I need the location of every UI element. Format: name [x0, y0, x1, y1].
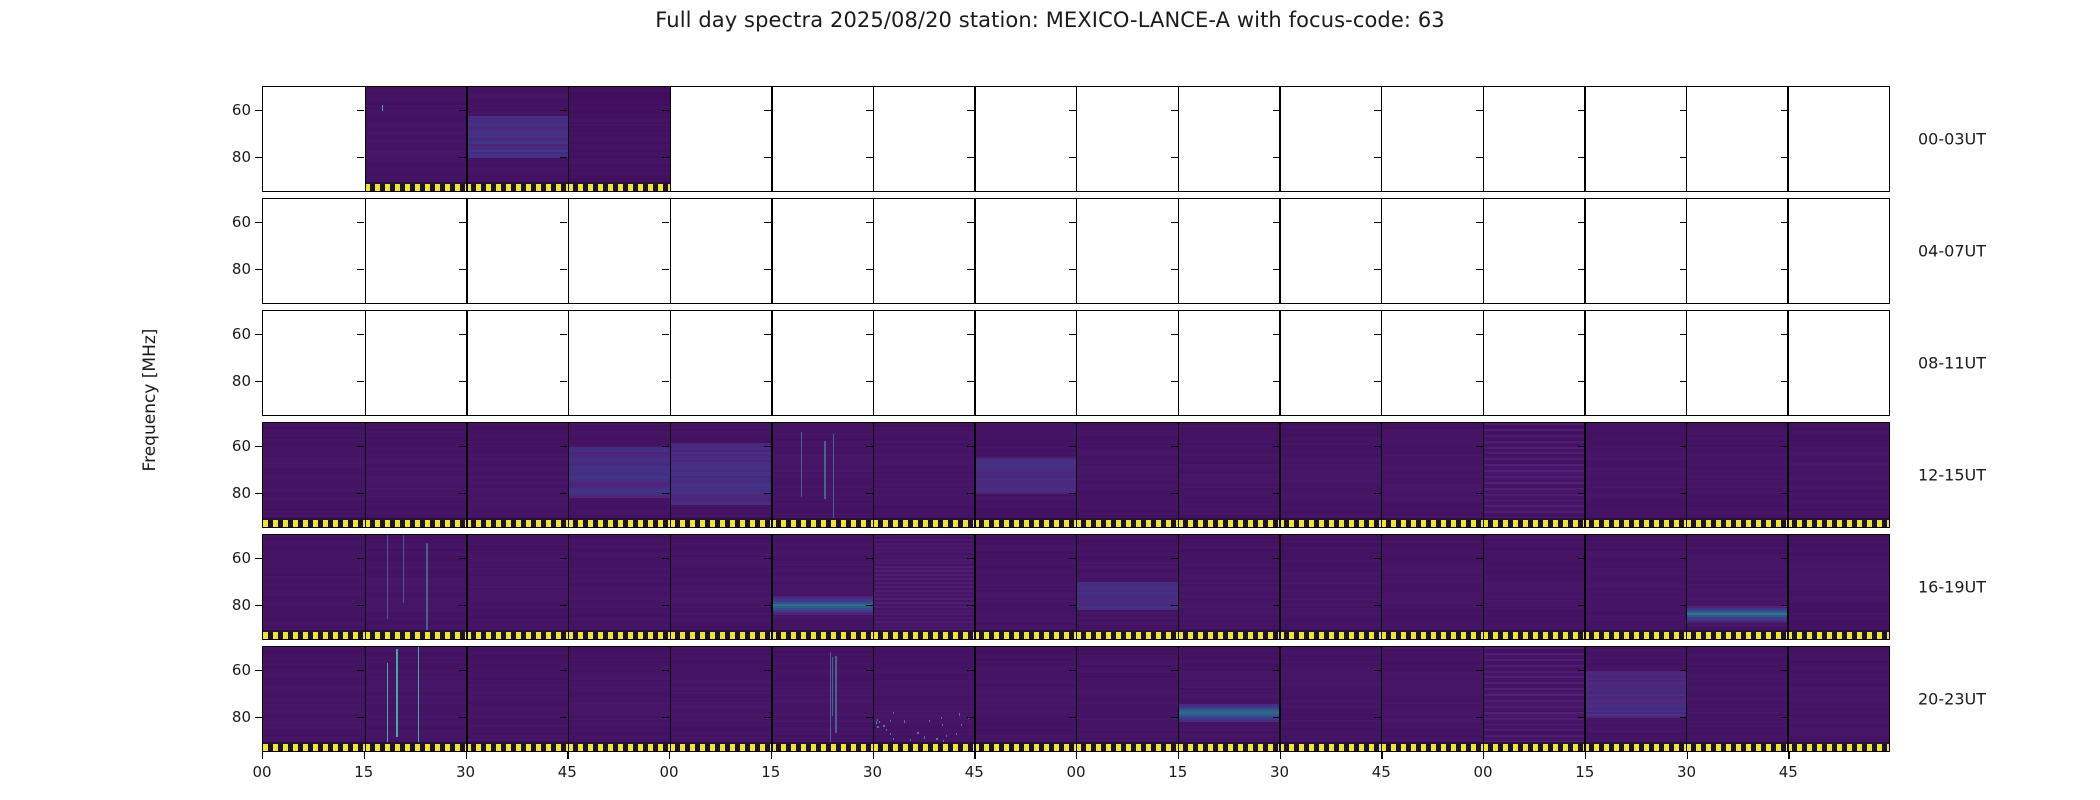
x-axis-tick-label: 15	[354, 763, 373, 781]
inner-tick	[1680, 493, 1687, 494]
spectrogram-cell[interactable]	[1076, 87, 1178, 191]
inner-tick	[1578, 717, 1585, 718]
cell-separator	[365, 647, 366, 751]
spectrogram-cell[interactable]	[1279, 647, 1381, 751]
axes-frame	[262, 646, 1890, 752]
spectrogram-cell[interactable]	[670, 535, 772, 639]
low-frequency-marker-band	[873, 632, 975, 639]
inner-tick	[459, 334, 466, 335]
spectrogram-cell[interactable]	[1381, 199, 1483, 303]
low-frequency-marker-band	[974, 520, 1076, 527]
spectrogram-texture	[466, 535, 568, 639]
inner-tick	[764, 446, 771, 447]
spectrogram-cell[interactable]	[1686, 535, 1788, 639]
spectrogram-cell[interactable]	[466, 423, 568, 527]
inner-tick	[662, 670, 669, 671]
x-axis-tick-label: 45	[1779, 763, 1798, 781]
inner-tick	[560, 110, 567, 111]
low-frequency-marker-band	[670, 744, 772, 751]
inner-tick	[866, 269, 873, 270]
inner-tick	[357, 717, 364, 718]
inner-tick	[560, 717, 567, 718]
spectrogram-cell[interactable]	[1584, 535, 1686, 639]
inner-tick	[1578, 269, 1585, 270]
x-axis-tick	[466, 752, 467, 759]
spectrogram-cell[interactable]	[1178, 87, 1280, 191]
inner-tick	[357, 558, 364, 559]
inner-tick	[1781, 717, 1788, 718]
low-frequency-marker-band	[974, 632, 1076, 639]
inner-tick	[967, 717, 974, 718]
axes-frame	[262, 310, 1890, 416]
cell-separator	[1178, 423, 1179, 527]
y-axis-tick	[255, 558, 262, 559]
spectrogram-cell[interactable]	[1178, 647, 1280, 751]
low-frequency-marker-band	[1076, 632, 1178, 639]
inner-tick	[1476, 269, 1483, 270]
cell-separator	[1584, 647, 1585, 751]
spectrogram-cell[interactable]	[568, 423, 670, 527]
spectrogram-cell[interactable]	[1178, 311, 1280, 415]
spectrogram-cell[interactable]	[1381, 423, 1483, 527]
spectrogram-texture	[1381, 423, 1483, 527]
spectrogram-texture	[1076, 535, 1178, 639]
low-frequency-marker-band	[1584, 632, 1686, 639]
inner-tick	[866, 670, 873, 671]
cell-separator	[670, 423, 671, 527]
spectrogram-cell[interactable]	[1787, 535, 1889, 639]
spectrogram-texture	[1787, 535, 1889, 639]
low-frequency-marker-band	[263, 744, 365, 751]
x-axis-tick	[1483, 752, 1484, 759]
inner-tick	[1680, 110, 1687, 111]
spectrogram-texture	[1787, 423, 1889, 527]
inner-tick	[1374, 493, 1381, 494]
spectrogram-cell[interactable]	[771, 647, 873, 751]
inner-tick	[1578, 157, 1585, 158]
spectrogram-texture	[1178, 535, 1280, 639]
cell-separator	[466, 87, 467, 191]
spectrogram-texture	[873, 647, 975, 751]
x-axis-tick-label: 30	[1677, 763, 1696, 781]
spectrogram-cell[interactable]	[974, 535, 1076, 639]
spectrogram-cell[interactable]	[670, 647, 772, 751]
inner-tick	[1171, 558, 1178, 559]
inner-tick	[1781, 493, 1788, 494]
spectrogram-cell[interactable]	[365, 535, 467, 639]
cell-separator	[1381, 535, 1382, 639]
cell-separator	[771, 311, 772, 415]
low-frequency-marker-band	[1178, 744, 1280, 751]
inner-tick	[662, 446, 669, 447]
inner-tick	[866, 558, 873, 559]
inner-tick	[1476, 670, 1483, 671]
spectrogram-cell[interactable]	[1584, 199, 1686, 303]
inner-tick	[1273, 446, 1280, 447]
spectrogram-texture	[263, 535, 365, 639]
cell-separator	[1279, 423, 1280, 527]
inner-tick	[1171, 334, 1178, 335]
spectrogram-cell[interactable]	[1279, 87, 1381, 191]
inner-tick	[1069, 110, 1076, 111]
y-axis-tick-label: 60	[232, 549, 251, 567]
spectrogram-cell[interactable]	[263, 199, 365, 303]
cell-separator	[466, 423, 467, 527]
inner-tick	[764, 334, 771, 335]
inner-tick	[866, 157, 873, 158]
spectrogram-cell[interactable]	[1787, 87, 1889, 191]
inner-tick	[560, 493, 567, 494]
spectrogram-texture	[1686, 647, 1788, 751]
cell-separator	[1483, 87, 1484, 191]
spectrogram-cell[interactable]	[670, 199, 772, 303]
inner-tick	[967, 269, 974, 270]
inner-tick	[1374, 446, 1381, 447]
x-axis-tick-label: 45	[558, 763, 577, 781]
low-frequency-marker-band	[365, 632, 467, 639]
inner-tick	[1680, 222, 1687, 223]
spectrogram-texture	[670, 647, 772, 751]
x-axis-tick	[1076, 752, 1077, 759]
cell-separator	[1584, 535, 1585, 639]
inner-tick	[1781, 157, 1788, 158]
inner-tick	[1476, 493, 1483, 494]
low-frequency-marker-band	[466, 632, 568, 639]
inner-tick	[560, 446, 567, 447]
inner-tick	[1069, 222, 1076, 223]
cell-separator	[568, 423, 569, 527]
cell-separator	[1584, 87, 1585, 191]
low-frequency-marker-band	[1279, 744, 1381, 751]
spectrogram-cell[interactable]	[1483, 199, 1585, 303]
spectrogram-texture	[1584, 535, 1686, 639]
low-frequency-marker-band	[1686, 520, 1788, 527]
spectrogram-cell[interactable]	[1076, 311, 1178, 415]
x-axis-tick	[364, 752, 365, 759]
low-frequency-marker-band	[974, 744, 1076, 751]
spectrogram-cell[interactable]	[1381, 311, 1483, 415]
spectrogram-texture	[771, 647, 873, 751]
inner-tick	[459, 446, 466, 447]
spectrogram-cell[interactable]	[466, 199, 568, 303]
spectrogram-cell[interactable]	[1381, 535, 1483, 639]
spectrogram-cell[interactable]	[974, 199, 1076, 303]
spectrogram-cell[interactable]	[1483, 87, 1585, 191]
inner-tick	[764, 110, 771, 111]
inner-tick	[357, 269, 364, 270]
inner-tick	[1476, 381, 1483, 382]
low-frequency-marker-band	[1178, 632, 1280, 639]
spectrogram-cell[interactable]	[1178, 199, 1280, 303]
low-frequency-marker-band	[568, 744, 670, 751]
inner-tick	[357, 222, 364, 223]
spectrogram-cell[interactable]	[873, 535, 975, 639]
spectrogram-cell[interactable]	[670, 423, 772, 527]
y-axis-tick	[255, 717, 262, 718]
axes-frame	[262, 422, 1890, 528]
spectrogram-cell[interactable]	[1686, 199, 1788, 303]
spectrogram-cell[interactable]	[1787, 199, 1889, 303]
inner-tick	[1374, 157, 1381, 158]
cell-separator	[974, 647, 975, 751]
inner-tick	[1476, 222, 1483, 223]
spectrogram-cell[interactable]	[466, 311, 568, 415]
spectrogram-cell[interactable]	[873, 647, 975, 751]
spectrogram-cell[interactable]	[1584, 311, 1686, 415]
spectrogram-cell[interactable]	[1584, 647, 1686, 751]
spectrogram-cell[interactable]	[670, 311, 772, 415]
spectrogram-cell[interactable]	[1584, 423, 1686, 527]
inner-tick	[866, 605, 873, 606]
inner-tick	[1781, 269, 1788, 270]
inner-tick	[459, 269, 466, 270]
spectrogram-cell[interactable]	[771, 423, 873, 527]
spectrogram-cell[interactable]	[1787, 311, 1889, 415]
spectrogram-texture	[365, 423, 467, 527]
cell-separator	[873, 535, 874, 639]
spectrogram-cell[interactable]	[1483, 535, 1585, 639]
spectrogram-cell[interactable]	[568, 87, 670, 191]
spectrogram-cell[interactable]	[1178, 535, 1280, 639]
spectrogram-cell[interactable]	[1279, 199, 1381, 303]
spectrogram-cell[interactable]	[263, 87, 365, 191]
cell-separator	[1178, 87, 1179, 191]
spectrogram-cell[interactable]	[365, 199, 467, 303]
spectrogram-cell[interactable]	[1686, 87, 1788, 191]
low-frequency-marker-band	[568, 520, 670, 527]
spectrogram-texture	[1178, 423, 1280, 527]
spectrogram-cell[interactable]	[771, 311, 873, 415]
y-axis-tick-label: 80	[232, 596, 251, 614]
spectrogram-cell[interactable]	[568, 647, 670, 751]
spectrogram-cell[interactable]	[771, 199, 873, 303]
inner-tick	[1171, 381, 1178, 382]
inner-tick	[662, 110, 669, 111]
spectrogram-cell[interactable]	[1483, 647, 1585, 751]
spectrogram-cell[interactable]	[1787, 647, 1889, 751]
low-frequency-marker-band	[873, 744, 975, 751]
spectrogram-cell[interactable]	[1076, 423, 1178, 527]
inner-tick	[764, 717, 771, 718]
spectrogram-cell[interactable]	[1279, 423, 1381, 527]
spectrogram-cell[interactable]	[873, 311, 975, 415]
spectrogram-cell[interactable]	[771, 535, 873, 639]
row-time-label: 20-23UT	[1918, 690, 1986, 709]
spectrogram-cell[interactable]	[568, 311, 670, 415]
cell-separator	[568, 535, 569, 639]
spectrogram-texture	[568, 423, 670, 527]
low-frequency-marker-band	[1483, 520, 1585, 527]
spectrogram-cell[interactable]	[263, 423, 365, 527]
inner-tick	[1680, 605, 1687, 606]
inner-tick	[560, 381, 567, 382]
spectrogram-texture	[1178, 647, 1280, 751]
cell-separator	[1076, 199, 1077, 303]
cell-separator	[365, 423, 366, 527]
inner-tick	[1578, 110, 1585, 111]
cell-separator	[1483, 535, 1484, 639]
inner-tick	[560, 222, 567, 223]
inner-tick	[1781, 605, 1788, 606]
inner-tick	[1374, 605, 1381, 606]
inner-tick	[662, 157, 669, 158]
spectrogram-row-04-07ut: 8060	[262, 198, 1890, 304]
spectrogram-cell[interactable]	[771, 87, 873, 191]
inner-tick	[1069, 334, 1076, 335]
row-time-label: 04-07UT	[1918, 242, 1986, 261]
cell-separator	[974, 535, 975, 639]
spectrogram-cell[interactable]	[466, 87, 568, 191]
spectrogram-cell[interactable]	[365, 87, 467, 191]
x-axis-tick-label: 45	[1372, 763, 1391, 781]
cell-separator	[771, 647, 772, 751]
inner-tick	[764, 670, 771, 671]
low-frequency-marker-band	[466, 184, 568, 191]
spectrogram-cell[interactable]	[466, 535, 568, 639]
inner-tick	[459, 605, 466, 606]
spectrogram-cell[interactable]	[1279, 311, 1381, 415]
spectrogram-row-16-19ut: 8060	[262, 534, 1890, 640]
cell-separator	[1178, 647, 1179, 751]
spectrogram-texture	[1381, 535, 1483, 639]
spectrogram-cell[interactable]	[974, 311, 1076, 415]
spectrogram-cell[interactable]	[263, 311, 365, 415]
low-frequency-marker-band	[365, 520, 467, 527]
inner-tick	[1069, 381, 1076, 382]
inner-tick	[357, 157, 364, 158]
spectrogram-cell[interactable]	[1787, 423, 1889, 527]
cell-separator	[670, 199, 671, 303]
spectrogram-cell[interactable]	[568, 199, 670, 303]
inner-tick	[560, 334, 567, 335]
spectrogram-cell[interactable]	[365, 423, 467, 527]
low-frequency-marker-band	[1686, 744, 1788, 751]
spectrogram-texture	[365, 535, 467, 639]
inner-tick	[1171, 446, 1178, 447]
spectrogram-texture	[771, 535, 873, 639]
spectrogram-cell[interactable]	[873, 199, 975, 303]
spectrogram-cell[interactable]	[365, 647, 467, 751]
low-frequency-marker-band	[771, 632, 873, 639]
cell-separator	[670, 87, 671, 191]
spectrogram-cell[interactable]	[263, 535, 365, 639]
spectrogram-cell[interactable]	[1584, 87, 1686, 191]
cell-separator	[670, 311, 671, 415]
spectrogram-cell[interactable]	[1076, 199, 1178, 303]
spectrogram-cell[interactable]	[1178, 423, 1280, 527]
spectrogram-cell[interactable]	[1279, 535, 1381, 639]
inner-tick	[1374, 110, 1381, 111]
low-frequency-marker-band	[771, 744, 873, 751]
cell-separator	[1787, 423, 1788, 527]
spectrogram-cell[interactable]	[1686, 311, 1788, 415]
inner-tick	[1069, 558, 1076, 559]
inner-tick	[1680, 334, 1687, 335]
spectrogram-cell[interactable]	[1076, 535, 1178, 639]
inner-tick	[662, 717, 669, 718]
inner-tick	[866, 446, 873, 447]
spectrogram-cell[interactable]	[974, 87, 1076, 191]
spectrogram-cell[interactable]	[1483, 423, 1585, 527]
x-axis-tick-label: 00	[1473, 763, 1492, 781]
spectrogram-cell[interactable]	[1686, 423, 1788, 527]
low-frequency-marker-band	[263, 632, 365, 639]
inner-tick	[1578, 605, 1585, 606]
inner-tick	[662, 558, 669, 559]
inner-tick	[1069, 605, 1076, 606]
spectrogram-cell[interactable]	[568, 535, 670, 639]
spectrogram-texture	[568, 647, 670, 751]
inner-tick	[764, 558, 771, 559]
inner-tick	[967, 558, 974, 559]
inner-tick	[967, 157, 974, 158]
x-axis-tick	[1381, 752, 1382, 759]
cell-separator	[1178, 199, 1179, 303]
spectrogram-texture	[873, 423, 975, 527]
spectrogram-cell[interactable]	[974, 647, 1076, 751]
cell-separator	[974, 199, 975, 303]
inner-tick	[1374, 334, 1381, 335]
spectrogram-cell[interactable]	[873, 87, 975, 191]
y-axis-tick	[255, 670, 262, 671]
spectrogram-cell[interactable]	[466, 647, 568, 751]
spectrogram-cell[interactable]	[263, 647, 365, 751]
spectrogram-cell[interactable]	[873, 423, 975, 527]
spectrogram-texture	[365, 647, 467, 751]
inner-tick	[357, 110, 364, 111]
low-frequency-marker-band	[466, 744, 568, 751]
spectrogram-cell[interactable]	[1483, 311, 1585, 415]
inner-tick	[1578, 222, 1585, 223]
cell-separator	[1483, 311, 1484, 415]
inner-tick	[1578, 446, 1585, 447]
x-axis-tick	[262, 752, 263, 759]
inner-tick	[560, 269, 567, 270]
inner-tick	[662, 493, 669, 494]
inner-tick	[1578, 381, 1585, 382]
cell-separator	[1787, 311, 1788, 415]
inner-tick	[1171, 670, 1178, 671]
inner-tick	[1781, 558, 1788, 559]
spectrogram-cell[interactable]	[1381, 87, 1483, 191]
x-axis-tick-label: 30	[456, 763, 475, 781]
cell-separator	[1381, 87, 1382, 191]
spectrogram-texture	[1076, 423, 1178, 527]
spectrogram-cell[interactable]	[670, 87, 772, 191]
spectrogram-texture	[1076, 647, 1178, 751]
cell-separator	[771, 199, 772, 303]
spectrogram-texture	[1483, 647, 1585, 751]
inner-tick	[1578, 558, 1585, 559]
low-frequency-marker-band	[568, 184, 670, 191]
cell-separator	[1483, 199, 1484, 303]
spectrogram-cell[interactable]	[365, 311, 467, 415]
cell-separator	[1279, 647, 1280, 751]
inner-tick	[459, 381, 466, 382]
spectrogram-cell[interactable]	[1076, 647, 1178, 751]
cell-separator	[365, 199, 366, 303]
inner-tick	[1069, 670, 1076, 671]
x-axis-tick-label: 15	[1575, 763, 1594, 781]
spectrogram-row-20-23ut: 806000153045001530450015304500153045	[262, 646, 1890, 752]
spectrogram-texture	[1279, 535, 1381, 639]
spectrogram-cell[interactable]	[974, 423, 1076, 527]
inner-tick	[560, 157, 567, 158]
spectrogram-cell[interactable]	[1381, 647, 1483, 751]
spectrogram-cell[interactable]	[1686, 647, 1788, 751]
inner-tick	[1171, 222, 1178, 223]
inner-tick	[662, 381, 669, 382]
